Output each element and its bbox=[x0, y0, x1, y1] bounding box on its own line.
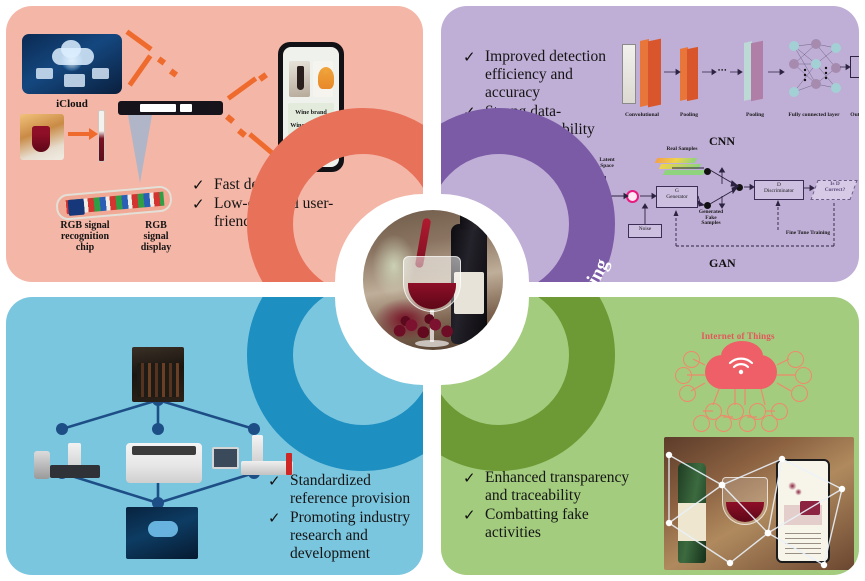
wine-glass bbox=[403, 256, 461, 312]
cnn-layer-label: Convolutional bbox=[618, 112, 666, 118]
connector-dash bbox=[258, 72, 268, 82]
cnn-layer-label: Pooling bbox=[736, 112, 774, 118]
connector-dash bbox=[128, 54, 153, 86]
check-icon: ✓ bbox=[192, 176, 214, 194]
laptop-icon bbox=[92, 68, 109, 79]
rgb-recognition-chip bbox=[55, 185, 173, 221]
analytical-instrument-left bbox=[34, 443, 108, 483]
phone-image-row bbox=[289, 61, 333, 97]
chip-label-line1: RGB signal bbox=[60, 220, 109, 231]
gan-real-samples-label: Real Samples bbox=[650, 146, 714, 152]
icloud-illustration bbox=[22, 34, 122, 94]
quadrant-wine-fingerprint: ✓ Standardized reference provision ✓ Pro… bbox=[6, 297, 423, 575]
rgb-display-label: RGB signal display bbox=[130, 220, 182, 253]
iot-node-icon bbox=[739, 415, 756, 432]
connector-dash bbox=[225, 114, 235, 124]
iot-node-icon bbox=[761, 415, 778, 432]
quadrant-rapid-detection: iCloud RGB signal recognition chip RGB bbox=[6, 6, 423, 282]
bullet-text: Combatting fake activities bbox=[485, 506, 639, 542]
bullet-item: ✓ Combatting fake activities bbox=[463, 506, 639, 542]
cnn-layer-label: Pooling bbox=[670, 112, 708, 118]
bullet-item: ✓ Improved detection efficiency and accu… bbox=[463, 48, 615, 102]
fingerprint-network bbox=[26, 347, 296, 562]
laptop-icon bbox=[36, 68, 53, 79]
test-strip bbox=[98, 110, 105, 162]
connector-dash bbox=[157, 57, 166, 66]
bullet-text: Standardized reference provision bbox=[290, 472, 416, 508]
scanner-device bbox=[118, 101, 223, 115]
blockchain-bullet-list: ✓ Enhanced transparency and traceability… bbox=[463, 469, 639, 543]
monitor-icon bbox=[212, 447, 239, 469]
analytical-instrument-center bbox=[126, 443, 202, 483]
grapes bbox=[393, 314, 459, 342]
iot-node-icon bbox=[795, 367, 812, 384]
scan-beam bbox=[128, 115, 152, 183]
network-node bbox=[56, 423, 68, 435]
center-photo-background bbox=[363, 210, 503, 350]
rgb-chip-label: RGB signal recognition chip bbox=[50, 220, 120, 253]
check-icon: ✓ bbox=[192, 195, 214, 213]
blockchain-traceability-photo bbox=[664, 437, 854, 570]
arrow-right-icon bbox=[68, 132, 90, 136]
wine-sample-photo bbox=[20, 114, 64, 160]
cloud-datacenter-photo bbox=[126, 507, 198, 559]
cnn-diagram: ••• Convolutional Pooling Pooling Fully … bbox=[618, 30, 850, 126]
quadrant-blockchain: Internet of Things bbox=[441, 297, 859, 575]
instrument-base bbox=[50, 465, 100, 478]
iot-node-icon bbox=[679, 385, 696, 402]
iot-node-icon bbox=[715, 415, 732, 432]
network-node bbox=[248, 423, 260, 435]
cnn-layer-label: Output bbox=[844, 112, 859, 118]
iot-node-icon bbox=[693, 415, 710, 432]
chip-label-line3: chip bbox=[76, 242, 94, 253]
network-node bbox=[152, 423, 164, 435]
bullet-text: Improved detection efficiency and accura… bbox=[485, 48, 615, 102]
gan-diagram: Latent Space Real Samples G Generator No… bbox=[586, 154, 854, 254]
cloud-shape bbox=[52, 48, 94, 65]
bullet-item: ✓ Enhanced transparency and traceability bbox=[463, 469, 639, 505]
display-label-line3: display bbox=[141, 242, 172, 253]
bullet-text: Promoting industry research and developm… bbox=[290, 509, 416, 563]
wifi-icon bbox=[727, 353, 755, 375]
iot-illustration: Internet of Things bbox=[647, 331, 829, 431]
laptop-icon bbox=[64, 74, 85, 87]
blockchain-network-overlay bbox=[664, 437, 854, 570]
infographic-figure: iCloud RGB signal recognition chip RGB bbox=[0, 0, 865, 581]
connector-dash bbox=[227, 76, 257, 100]
display-label-line1: RGB bbox=[145, 220, 167, 231]
quadrant-deep-learning: ✓ Improved detection efficiency and accu… bbox=[441, 6, 859, 282]
iot-node-icon bbox=[683, 351, 700, 368]
icloud-label: iCloud bbox=[22, 98, 122, 110]
analytical-instrument-right bbox=[212, 435, 296, 485]
iot-node-icon bbox=[787, 351, 804, 368]
check-icon: ✓ bbox=[463, 506, 485, 524]
check-icon: ✓ bbox=[463, 469, 485, 487]
scanner-slot bbox=[140, 104, 176, 112]
check-icon: ✓ bbox=[463, 48, 485, 66]
connector-dash bbox=[237, 128, 247, 138]
bullet-text: Enhanced transparency and traceability bbox=[485, 469, 639, 505]
iot-node-icon bbox=[791, 385, 808, 402]
cnn-layer-label: Fully connected layer bbox=[782, 112, 846, 118]
instrument-tank bbox=[34, 451, 50, 479]
connector-dash bbox=[125, 30, 152, 52]
wheat-illustration bbox=[313, 61, 334, 97]
cnn-ellipsis: ••• bbox=[718, 68, 727, 74]
wine-liquid bbox=[408, 283, 456, 309]
wine-cellar-photo bbox=[132, 347, 184, 402]
connector-dash bbox=[169, 69, 178, 78]
iot-node-icon bbox=[675, 367, 692, 384]
gan-connectors bbox=[586, 154, 854, 254]
center-wine-photo bbox=[359, 206, 507, 354]
display-label-line2: signal bbox=[143, 231, 168, 242]
scanner-slot bbox=[180, 104, 192, 112]
instrument-indicator bbox=[286, 453, 292, 475]
wine-bottle-thumbnail bbox=[289, 61, 310, 97]
gan-title: GAN bbox=[709, 256, 736, 271]
chip-label-line2: recognition bbox=[61, 231, 109, 242]
chip-block bbox=[68, 199, 85, 216]
